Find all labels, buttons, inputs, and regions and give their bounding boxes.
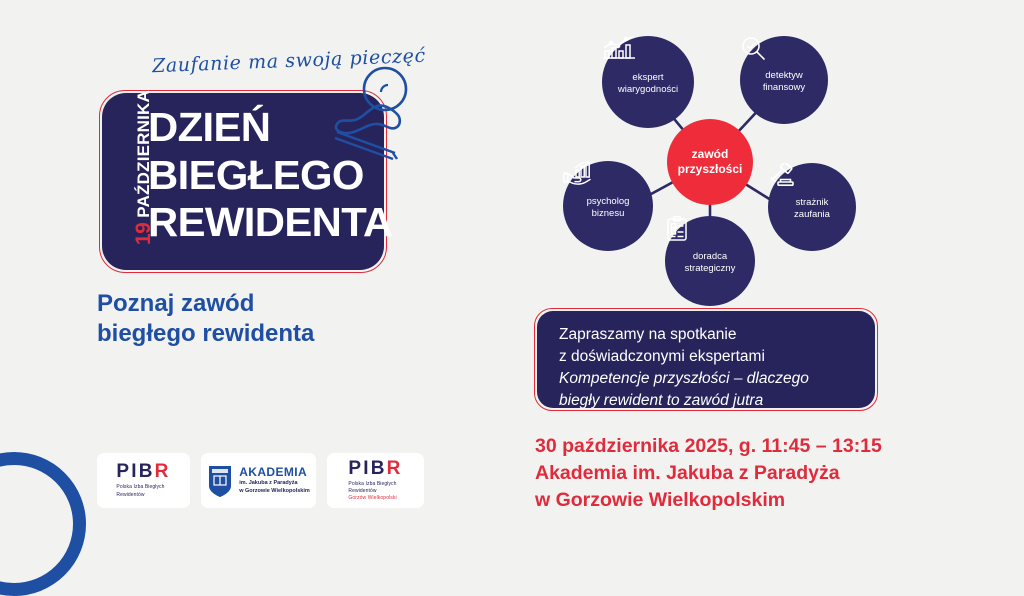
- event-city: w Gorzowie Wielkopolskim: [535, 487, 882, 514]
- invitation-box: Zapraszamy na spotkanie z doświadczonymi…: [534, 308, 878, 411]
- invitation-line-4: biegły rewident to zawód jutra: [559, 390, 875, 412]
- hub-line-2: przyszłości: [678, 162, 743, 177]
- invitation-body: Zapraszamy na spotkanie z doświadczonymi…: [537, 311, 875, 408]
- invitation-line-1: Zapraszamy na spotkanie: [559, 324, 875, 346]
- node-label-straznik: strażnik zaufania: [794, 197, 830, 221]
- akademia-sub-line-1: im. Jakuba z Paradyża: [239, 479, 310, 487]
- badge-title-line-3: REWIDENTA: [148, 202, 381, 243]
- pibr-subtitle: Polska Izba Biegłych Rewidentów: [116, 484, 170, 499]
- pibr-wordmark: PIBR: [116, 462, 170, 481]
- poster-canvas: Zaufanie ma swoją pieczęć 19 PAŹDZIERNIK…: [0, 0, 1024, 538]
- node-psycholog-line-2: biznesu: [592, 208, 625, 219]
- node-label-ekspert: ekspert wiarygodności: [618, 72, 678, 96]
- akademia-sub-line-2: w Gorzowie Wielkopolskim: [239, 487, 310, 495]
- node-psycholog-line-1: psycholog: [587, 196, 630, 207]
- node-label-detektyw: detektyw finansowy: [763, 70, 805, 94]
- pibr-word-main: PIB: [116, 461, 154, 482]
- page-subtitle: Poznaj zawód biegłego rewidenta: [97, 289, 314, 350]
- node-label-psycholog: psycholog biznesu: [587, 196, 630, 220]
- stamp-icon: [325, 62, 421, 170]
- pibr-gorzow-sub-line-2: Rewidentów: [348, 488, 402, 495]
- node-label-doradca: doradca strategiczny: [685, 251, 736, 275]
- event-datetime: 30 października 2025, g. 11:45 – 13:15: [535, 433, 882, 460]
- pibr-word-accent: R: [155, 461, 171, 482]
- decorative-ring: [0, 452, 86, 596]
- subtitle-line-1: Poznaj zawód: [97, 289, 314, 319]
- diagram-node-ekspert[interactable]: ekspert wiarygodności: [602, 36, 694, 128]
- subtitle-line-2: biegłego rewidenta: [97, 319, 314, 349]
- node-detektyw-line-1: detektyw: [765, 70, 803, 81]
- akademia-title: AKADEMIA: [239, 466, 310, 479]
- logo-pibr-gorzow: PIBR Polska Izba Biegłych Rewidentów Gor…: [327, 453, 424, 508]
- invitation-line-3: Kompetencje przyszłości – dlaczego: [559, 368, 875, 390]
- event-details: 30 października 2025, g. 11:45 – 13:15 A…: [535, 433, 882, 514]
- diagram-node-psycholog[interactable]: psycholog biznesu: [563, 161, 653, 251]
- diagram-node-detektyw[interactable]: detektyw finansowy: [740, 36, 828, 124]
- diagram-hub: zawód przyszłości: [667, 119, 753, 205]
- pibr-gorzow-sub-line-3: Gorzów Wielkopolski: [348, 495, 402, 502]
- logo-pibr: PIBR Polska Izba Biegłych Rewidentów: [97, 453, 190, 508]
- pibr-gorzow-word-accent: R: [387, 458, 403, 479]
- node-doradca-line-1: doradca: [693, 251, 727, 262]
- node-straznik-line-2: zaufania: [794, 209, 830, 220]
- logo-strip: PIBR Polska Izba Biegłych Rewidentów AKA…: [97, 453, 424, 508]
- node-straznik-line-1: strażnik: [796, 197, 829, 208]
- invitation-line-2: z doświadczonymi ekspertami: [559, 346, 875, 368]
- pibr-sub-line-1: Polska Izba Biegłych: [116, 484, 170, 491]
- diagram-node-doradca[interactable]: doradca strategiczny: [665, 216, 755, 306]
- node-detektyw-line-2: finansowy: [763, 82, 805, 93]
- pibr-gorzow-subtitle: Polska Izba Biegłych Rewidentów Gorzów W…: [348, 481, 402, 503]
- akademia-crest-icon: [207, 464, 233, 498]
- node-ekspert-line-1: ekspert: [632, 72, 663, 83]
- pibr-gorzow-wordmark: PIBR: [348, 459, 402, 478]
- pibr-gorzow-sub-line-1: Polska Izba Biegłych: [348, 481, 402, 488]
- hub-line-1: zawód: [678, 147, 743, 162]
- node-doradca-line-2: strategiczny: [685, 263, 736, 274]
- competency-diagram: zawód przyszłości ekspert wiarygodności: [555, 18, 885, 308]
- node-ekspert-line-2: wiarygodności: [618, 84, 678, 95]
- pibr-gorzow-word-main: PIB: [348, 458, 386, 479]
- diagram-node-straznik[interactable]: strażnik zaufania: [768, 163, 856, 251]
- logo-akademia: AKADEMIA im. Jakuba z Paradyża w Gorzowi…: [201, 453, 316, 508]
- pibr-sub-line-2: Rewidentów: [116, 492, 170, 499]
- event-venue: Akademia im. Jakuba z Paradyża: [535, 460, 882, 487]
